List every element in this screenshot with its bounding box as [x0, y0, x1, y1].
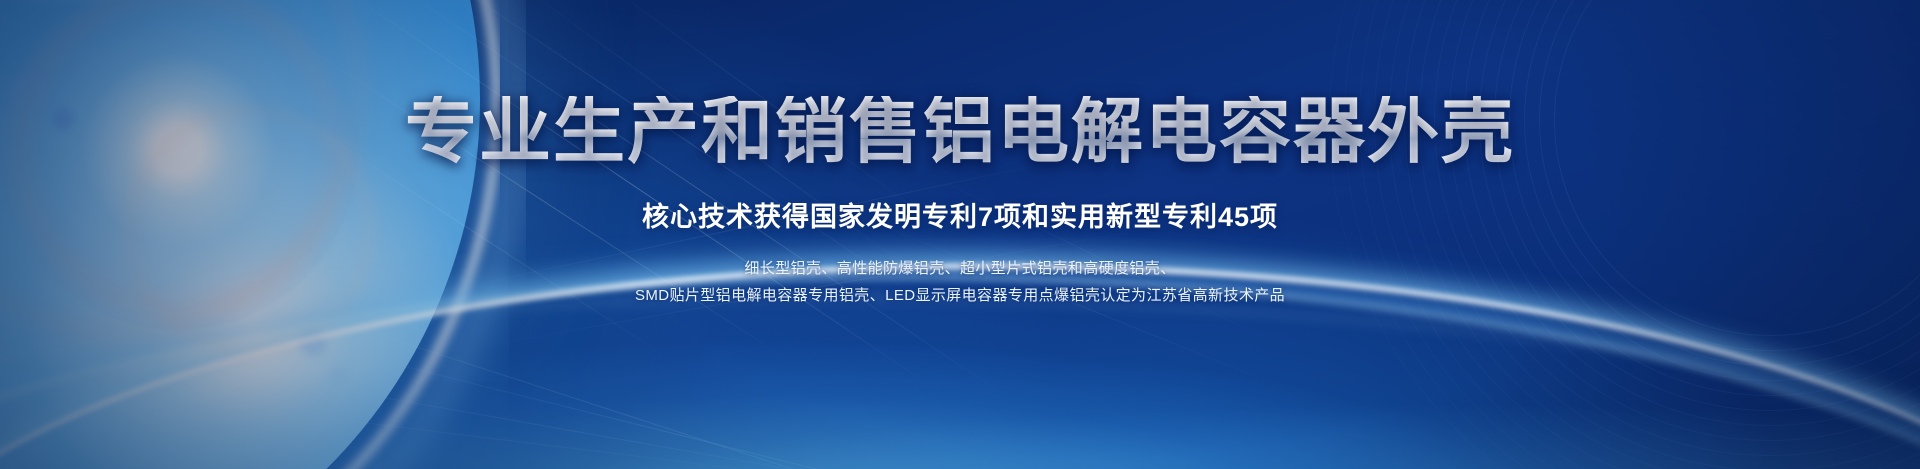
banner-content: 专业生产和销售铝电解电容器外壳 核心技术获得国家发明专利7项和实用新型专利45项… — [0, 0, 1920, 469]
banner-detail-block: 细长型铝壳、高性能防爆铝壳、超小型片式铝壳和高硬度铝壳、 SMD贴片型铝电解电容… — [635, 256, 1285, 309]
banner-headline: 专业生产和销售铝电解电容器外壳 — [405, 96, 1515, 169]
banner-detail-line-2: SMD贴片型铝电解电容器专用铝壳、LED显示屏电容器专用点爆铝壳认定为江苏省高新… — [635, 283, 1285, 309]
banner-detail-line-1: 细长型铝壳、高性能防爆铝壳、超小型片式铝壳和高硬度铝壳、 — [635, 256, 1285, 282]
hero-banner: 专业生产和销售铝电解电容器外壳 核心技术获得国家发明专利7项和实用新型专利45项… — [0, 0, 1920, 469]
banner-subheadline: 核心技术获得国家发明专利7项和实用新型专利45项 — [642, 195, 1278, 234]
